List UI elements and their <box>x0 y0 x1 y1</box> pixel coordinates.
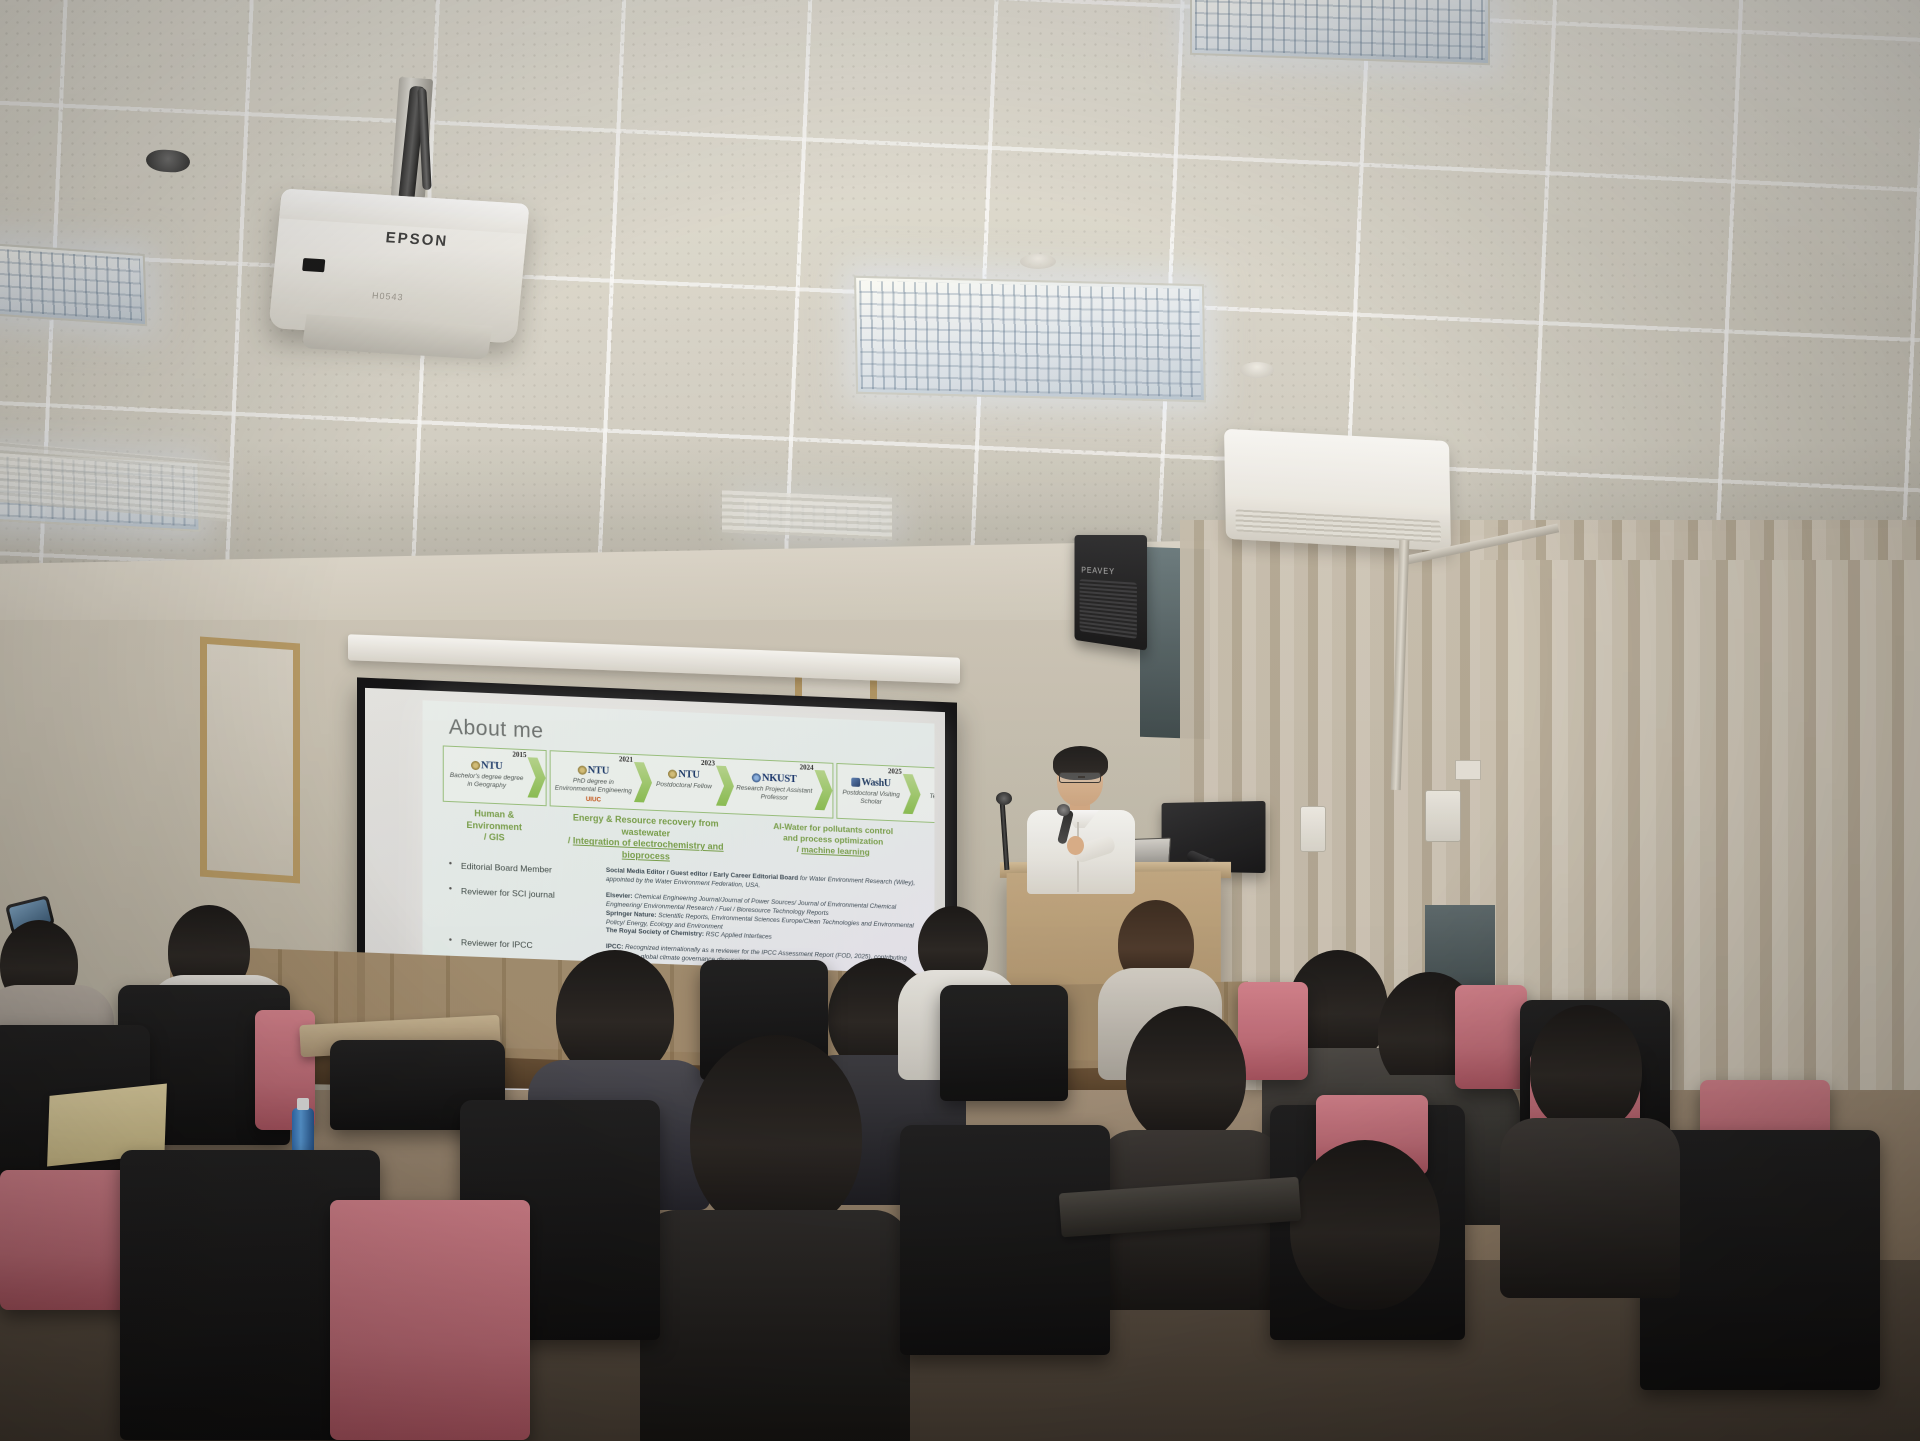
timeline-description: Postdoctoral Visiting Scholar <box>840 789 901 809</box>
timeline-year: 2024 <box>800 763 814 772</box>
ceiling-projector: EPSON H0543 <box>268 189 529 344</box>
ceiling-light-panel <box>854 276 1206 403</box>
chair <box>1238 982 1308 1080</box>
ceiling-light-panel <box>1190 0 1490 65</box>
wall-board-left <box>200 637 300 884</box>
timeline-year: 2023 <box>701 759 715 768</box>
chevron-right-icon <box>903 774 921 815</box>
chair <box>330 1200 530 1440</box>
wall-speaker: PEAVEY <box>1075 535 1147 651</box>
stand-microphone-head <box>996 792 1012 805</box>
presenter <box>1015 752 1145 892</box>
chevron-right-icon <box>634 762 652 803</box>
ntu-seal-icon <box>471 761 480 770</box>
washu-seal-icon <box>851 778 860 787</box>
chevron-right-icon <box>716 766 734 807</box>
timeline-institution: NTU <box>653 768 715 782</box>
wall-switch[interactable] <box>1455 760 1481 780</box>
glasses-icon <box>1059 772 1101 783</box>
bullet-label: Editorial Board Member <box>447 860 598 884</box>
timeline-step: 2015 NTU Bachelor's degree degree in Geo… <box>445 749 529 803</box>
ceiling-light-panel <box>0 242 147 327</box>
timeline-group-1: 2015 NTU Bachelor's degree degree in Geo… <box>443 745 547 806</box>
timeline-step: 2024 NKUST Research Project Assistant Pr… <box>733 761 816 814</box>
projector-sensor <box>302 258 325 272</box>
ceiling-vent <box>722 490 892 539</box>
audience-head <box>1530 1005 1642 1133</box>
nkust-seal-icon <box>752 773 761 782</box>
timeline-description: PhD degree in Environmental Engineering <box>554 776 633 796</box>
timeline-step: 2023 NTU Postdoctoral Fellow <box>651 758 717 811</box>
timeline-institution: NTU <box>554 763 633 778</box>
projector-model-label: H0543 <box>372 290 404 302</box>
timeline-step: 2021 NTU PhD degree in Environmental Eng… <box>552 753 635 807</box>
timeline-step: Present NKUST Tenure-track Assistant Pro… <box>920 770 935 823</box>
chevron-right-icon <box>527 757 545 798</box>
timeline-year: 2015 <box>512 751 526 760</box>
ntu-seal-icon <box>668 769 677 778</box>
timeline-description: Tenure-track Assistant Professor <box>922 793 935 813</box>
audience-body <box>640 1210 910 1441</box>
timeline-institution: WashU <box>840 776 901 790</box>
research-theme: Human & Environment / GIS <box>443 807 546 858</box>
timeline-description: Postdoctoral Fellow <box>653 781 715 792</box>
slide-bullet-list: Editorial Board Member Social Media Edit… <box>447 860 919 974</box>
bullet-label: Reviewer for SCI journal <box>447 885 598 936</box>
timeline-step: 2025 WashU Postdoctoral Visiting Scholar <box>838 766 903 819</box>
chair <box>900 1125 1110 1355</box>
wall-control-panel[interactable] <box>1425 790 1461 842</box>
audience-head <box>1126 1006 1246 1144</box>
audience-body <box>1500 1118 1680 1298</box>
presenter-hand <box>1067 836 1084 855</box>
audience-head <box>1290 1140 1440 1310</box>
timeline-group-3: 2025 WashU Postdoctoral Visiting Scholar… <box>836 763 934 827</box>
timeline-description: Research Project Assistant Professor <box>735 784 814 804</box>
chair <box>1455 985 1527 1089</box>
smoke-detector-icon <box>1240 362 1274 378</box>
ntu-seal-icon <box>578 765 587 774</box>
speaker-grille <box>1080 579 1137 639</box>
speaker-brand-label: PEAVEY <box>1081 566 1115 577</box>
chevron-right-icon <box>815 770 833 811</box>
timeline-institution: NTU <box>447 759 527 774</box>
projector-brand-label: EPSON <box>385 229 449 250</box>
theme-underlined-text: machine learning <box>801 844 869 857</box>
audience-head <box>690 1035 862 1235</box>
timeline-institution: NKUST <box>735 771 814 785</box>
chair <box>940 985 1068 1101</box>
lecture-hall-photo: EPSON H0543 About me 2015 NTU Bachelor's… <box>0 0 1920 1441</box>
wall-remote-holder[interactable] <box>1300 806 1326 852</box>
timeline-year: 2021 <box>619 755 633 764</box>
air-conditioner <box>1224 429 1451 552</box>
timeline-year: 2025 <box>888 767 902 776</box>
bullet-body: Elsevier: Chemical Engineering Journal/J… <box>606 892 919 950</box>
timeline-description: Bachelor's degree degree in Geography <box>447 772 527 792</box>
research-theme: AI-Water for pollutants control and proc… <box>746 820 921 874</box>
research-theme: Energy & Resource recovery from wastewat… <box>546 811 746 866</box>
timeline-group-2: 2021 NTU PhD degree in Environmental Eng… <box>550 750 834 818</box>
microphone-head <box>1057 804 1070 816</box>
smoke-detector-icon <box>1020 254 1056 269</box>
